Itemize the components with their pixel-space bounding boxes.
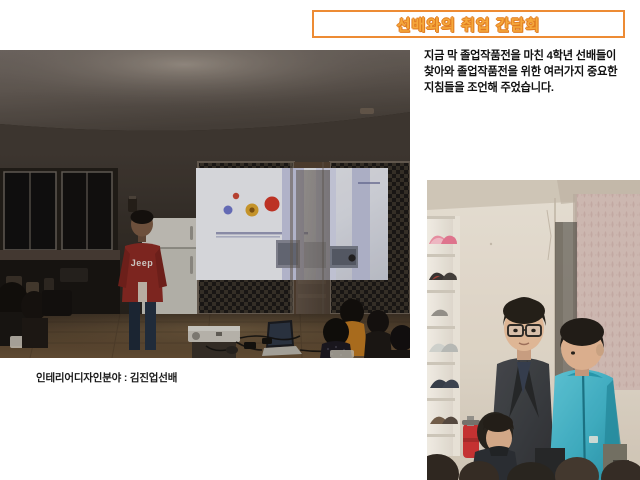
photo-seminar-room: Jeep <box>0 50 410 358</box>
photo-seminar-room-graphic: Jeep <box>0 50 410 358</box>
photo-two-students <box>427 180 640 480</box>
photo-two-students-graphic <box>427 180 640 480</box>
body-paragraph: 지금 막 졸업작품전을 마친 4학년 선배들이 찾아와 졸업작품전을 위한 여러… <box>424 48 631 96</box>
caption-left-photo: 인테리어디자인분야 : 김진업선배 <box>36 370 177 385</box>
slide-title-box: 선배와의 취업 간담회 <box>312 10 625 38</box>
page-title: 선배와의 취업 간담회 <box>397 14 541 35</box>
